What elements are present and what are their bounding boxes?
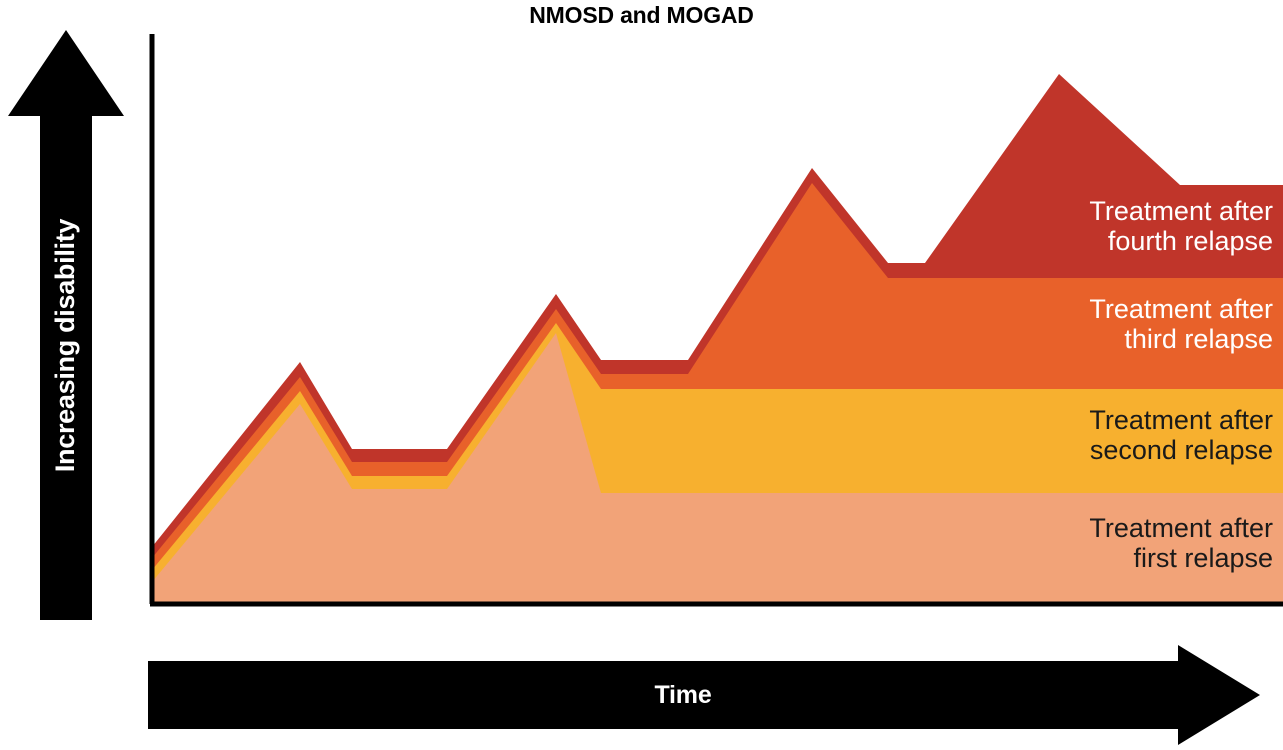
plot-area	[0, 0, 1283, 750]
figure-root: NMOSD and MOGAD Increasing disability Ti…	[0, 0, 1283, 750]
